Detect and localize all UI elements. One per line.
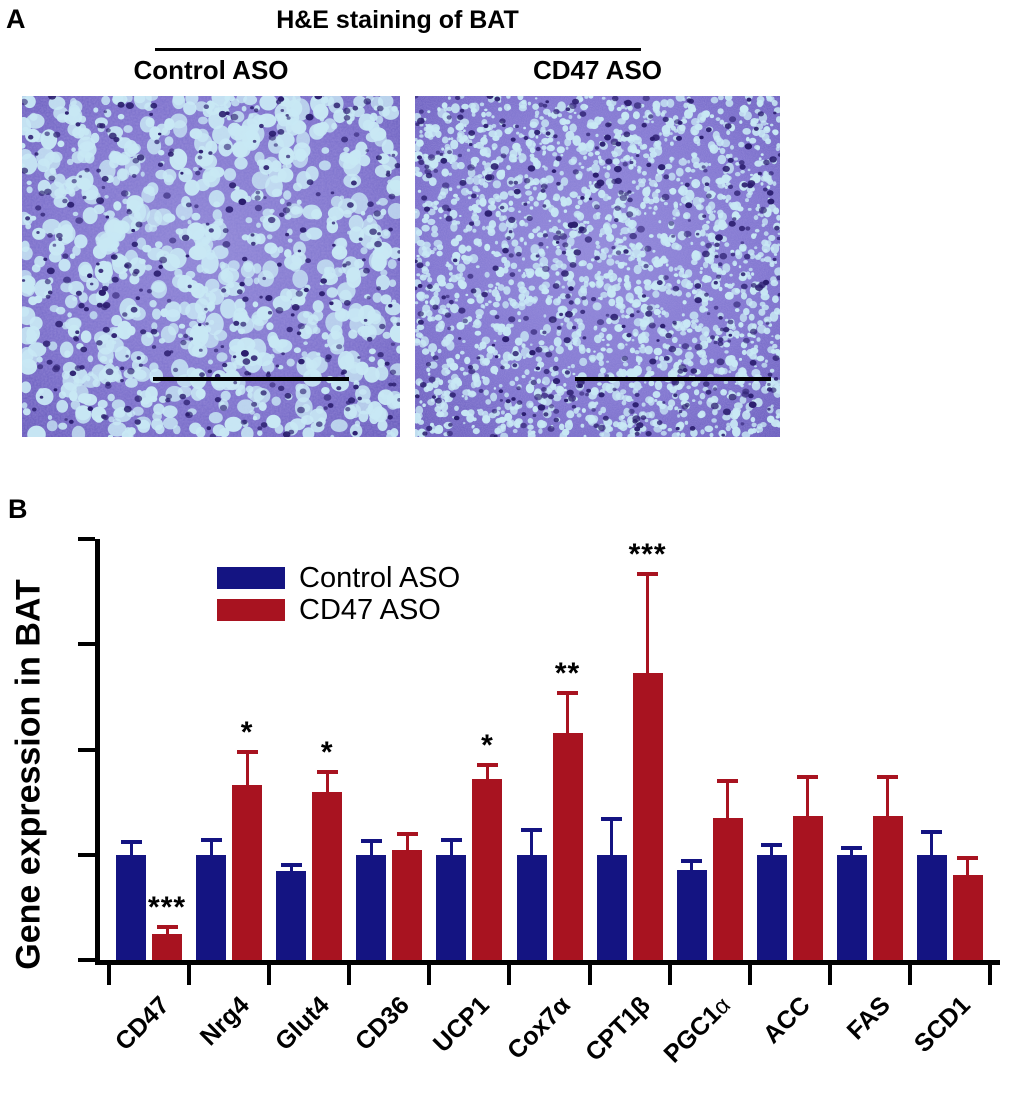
x-category-label-cd36: CD36 bbox=[318, 991, 416, 1089]
bar-pgc1-control-aso bbox=[677, 870, 707, 961]
y-axis-label: Gene expression in BAT bbox=[10, 560, 49, 990]
scale-bar-control bbox=[153, 377, 349, 381]
significance-marker: *** bbox=[132, 891, 202, 925]
bar-cox7-cd47-aso bbox=[553, 733, 583, 960]
significance-marker: * bbox=[292, 736, 362, 770]
significance-marker: *** bbox=[613, 538, 683, 572]
x-category-label-scd1: SCD1 bbox=[878, 991, 976, 1089]
bar-nrg4-cd47-aso bbox=[232, 785, 262, 960]
x-tick bbox=[107, 965, 111, 985]
y-axis-line bbox=[95, 539, 100, 960]
legend-label-cd47-aso: CD47 ASO bbox=[299, 594, 441, 627]
y-tick bbox=[78, 748, 95, 752]
panel-a-title-underline bbox=[155, 48, 641, 51]
bar-acc-control-aso bbox=[757, 855, 787, 960]
bar-cd36-control-aso bbox=[356, 855, 386, 960]
x-tick bbox=[588, 965, 592, 985]
x-tick bbox=[748, 965, 752, 985]
x-category-label-ucp1: UCP1 bbox=[398, 991, 496, 1089]
bar-ucp1-cd47-aso bbox=[472, 779, 502, 960]
chart-legend: Control ASO CD47 ASO bbox=[217, 563, 460, 627]
bar-scd1-control-aso bbox=[917, 855, 947, 960]
x-tick bbox=[988, 965, 992, 985]
micrograph-control-aso bbox=[22, 96, 400, 437]
x-category-label-cox7: Cox7α bbox=[478, 991, 576, 1089]
x-category-label-fas: FAS bbox=[798, 991, 896, 1089]
significance-marker: * bbox=[212, 716, 282, 750]
x-tick bbox=[668, 965, 672, 985]
x-axis-line bbox=[95, 960, 1000, 965]
x-tick bbox=[828, 965, 832, 985]
legend-label-control-aso: Control ASO bbox=[299, 562, 460, 595]
significance-marker: * bbox=[452, 729, 522, 763]
x-category-label-cd47: CD47 bbox=[77, 991, 175, 1089]
bar-nrg4-control-aso bbox=[196, 855, 226, 960]
bar-acc-cd47-aso bbox=[793, 816, 823, 960]
bar-fas-cd47-aso bbox=[873, 816, 903, 960]
plot-area: 01234 *********** CD47Nrg4Glut4CD36UCP1C… bbox=[95, 539, 1000, 960]
x-tick bbox=[187, 965, 191, 985]
x-tick bbox=[267, 965, 271, 985]
micrograph-label-control-aso: Control ASO bbox=[22, 55, 400, 86]
legend-swatch-cd47-aso bbox=[217, 599, 285, 621]
bar-cpt1-cd47-aso bbox=[633, 673, 663, 960]
x-category-label-acc: ACC bbox=[718, 991, 816, 1089]
bar-pgc1-cd47-aso bbox=[713, 818, 743, 960]
micrograph-label-cd47-aso: CD47 ASO bbox=[415, 55, 780, 86]
x-category-label-glut4: Glut4 bbox=[237, 991, 335, 1089]
legend-swatch-control-aso bbox=[217, 567, 285, 589]
panel-a-letter: A bbox=[6, 4, 26, 35]
bar-scd1-cd47-aso bbox=[953, 875, 983, 960]
y-tick bbox=[78, 958, 95, 962]
legend-item-control-aso: Control ASO bbox=[217, 563, 460, 593]
bar-glut4-cd47-aso bbox=[312, 792, 342, 960]
x-category-label-cpt1: CPT1β bbox=[558, 991, 656, 1089]
panel-a-title: H&E staining of BAT bbox=[155, 6, 640, 35]
legend-item-cd47-aso: CD47 ASO bbox=[217, 595, 460, 625]
bar-cox7-control-aso bbox=[517, 855, 547, 960]
x-category-label-nrg4: Nrg4 bbox=[157, 991, 255, 1089]
x-tick bbox=[427, 965, 431, 985]
bar-glut4-control-aso bbox=[276, 871, 306, 960]
bar-cd47-cd47-aso bbox=[152, 934, 182, 960]
x-tick bbox=[347, 965, 351, 985]
y-tick bbox=[78, 642, 95, 646]
y-tick bbox=[78, 853, 95, 857]
bar-cd36-cd47-aso bbox=[392, 850, 422, 961]
x-tick bbox=[507, 965, 511, 985]
bar-fas-control-aso bbox=[837, 855, 867, 960]
scale-bar-cd47 bbox=[575, 377, 771, 381]
x-category-label-pgc1: PGC1α bbox=[638, 991, 736, 1089]
y-tick bbox=[78, 537, 95, 541]
bar-cpt1-control-aso bbox=[597, 855, 627, 960]
bar-chart: Gene expression in BAT 01234 ***********… bbox=[0, 505, 1020, 1106]
x-tick bbox=[908, 965, 912, 985]
bar-ucp1-control-aso bbox=[436, 855, 466, 960]
micrograph-cd47-aso bbox=[415, 96, 780, 437]
significance-marker: ** bbox=[533, 657, 603, 691]
